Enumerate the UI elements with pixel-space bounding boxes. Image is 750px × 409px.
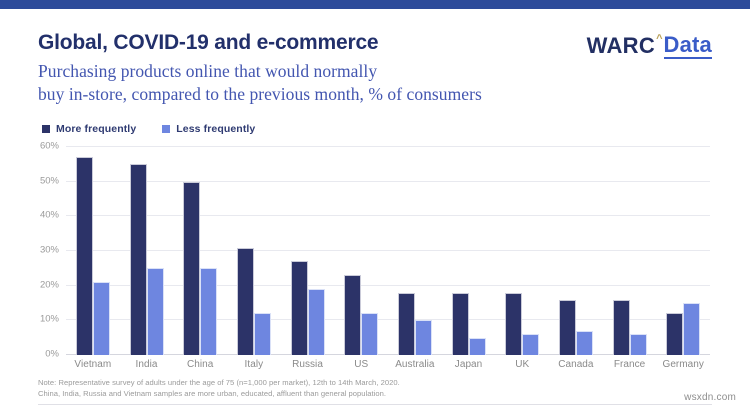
bar[interactable]: [415, 320, 432, 355]
slide: Global, COVID-19 and e-commerce Purchasi…: [0, 0, 750, 409]
caret-icon: ^: [656, 34, 662, 45]
top-accent-bar: [0, 0, 750, 9]
x-axis-label: Italy: [227, 359, 281, 370]
legend-swatch-more-frequently: [42, 125, 50, 133]
x-axis-label: US: [334, 359, 388, 370]
x-axis-labels: VietnamIndiaChinaItalyRussiaUSAustraliaJ…: [66, 359, 710, 370]
page-subtitle: Purchasing products online that would no…: [38, 60, 712, 105]
bar-group: [495, 147, 549, 355]
plot-area: 0%10%20%30%40%50%60%: [66, 147, 710, 355]
legend-label-less-frequently: Less frequently: [176, 123, 255, 135]
footer-divider: [38, 404, 712, 405]
x-axis-label: UK: [495, 359, 549, 370]
legend-item-less-frequently[interactable]: Less frequently: [162, 123, 255, 135]
bar[interactable]: [254, 313, 271, 355]
bar-group: [227, 147, 281, 355]
bar-group: [66, 147, 120, 355]
logo-product-text: Data: [664, 33, 713, 59]
bar-chart: 0%10%20%30%40%50%60% VietnamIndiaChinaIt…: [38, 143, 710, 355]
watermark: wsxdn.com: [684, 392, 736, 403]
x-axis-label: Australia: [388, 359, 442, 370]
footnote-line-2: China, India, Russia and Vietnam samples…: [38, 388, 712, 399]
bar-group: [442, 147, 496, 355]
bar[interactable]: [630, 334, 647, 355]
x-axis-label: France: [603, 359, 657, 370]
bar-group: [334, 147, 388, 355]
chart-legend: More frequently Less frequently: [42, 121, 712, 137]
legend-item-more-frequently[interactable]: More frequently: [42, 123, 136, 135]
logo-brand-text: WARC: [587, 33, 655, 59]
bar-groups: [66, 147, 710, 355]
y-axis-tick-20: 20%: [40, 279, 66, 290]
bar[interactable]: [505, 293, 522, 355]
bar[interactable]: [576, 331, 593, 355]
bar[interactable]: [308, 289, 325, 355]
y-axis-tick-60: 60%: [40, 141, 66, 152]
header: Global, COVID-19 and e-commerce Purchasi…: [38, 31, 712, 119]
bar[interactable]: [200, 268, 217, 355]
bar[interactable]: [237, 248, 254, 355]
page-body: Global, COVID-19 and e-commerce Purchasi…: [0, 9, 750, 409]
bar[interactable]: [666, 313, 683, 355]
y-axis-tick-30: 30%: [40, 245, 66, 256]
y-axis-tick-40: 40%: [40, 210, 66, 221]
x-axis-label: China: [173, 359, 227, 370]
bar[interactable]: [522, 334, 539, 355]
bar-group: [120, 147, 174, 355]
bar-group: [549, 147, 603, 355]
bar[interactable]: [469, 338, 486, 355]
bar-group: [173, 147, 227, 355]
footer: Note: Representative survey of adults un…: [38, 377, 712, 409]
x-axis-label: Russia: [281, 359, 335, 370]
x-axis-label: India: [120, 359, 174, 370]
bar[interactable]: [76, 157, 93, 355]
bar[interactable]: [398, 293, 415, 355]
x-axis-label: Vietnam: [66, 359, 120, 370]
bar-group: [388, 147, 442, 355]
bar[interactable]: [130, 164, 147, 355]
y-axis-tick-0: 0%: [45, 349, 66, 360]
bar[interactable]: [147, 268, 164, 355]
footnote: Note: Representative survey of adults un…: [38, 377, 712, 400]
x-axis-label: Japan: [442, 359, 496, 370]
legend-label-more-frequently: More frequently: [56, 123, 136, 135]
bar[interactable]: [613, 300, 630, 355]
bar[interactable]: [183, 182, 200, 355]
bar[interactable]: [93, 282, 110, 355]
bar-group: [603, 147, 657, 355]
bar-group: [656, 147, 710, 355]
x-axis-label: Canada: [549, 359, 603, 370]
bar-group: [281, 147, 335, 355]
bar[interactable]: [452, 293, 469, 355]
subtitle-line-2: buy in-store, compared to the previous m…: [38, 83, 712, 105]
x-axis-label: Germany: [656, 359, 710, 370]
bar[interactable]: [683, 303, 700, 355]
subtitle-line-1: Purchasing products online that would no…: [38, 60, 712, 82]
bar[interactable]: [559, 300, 576, 355]
y-axis-tick-50: 50%: [40, 175, 66, 186]
y-axis-tick-10: 10%: [40, 314, 66, 325]
bar[interactable]: [361, 313, 378, 355]
bar[interactable]: [344, 275, 361, 355]
warc-data-logo[interactable]: WARC ^ Data: [587, 33, 712, 59]
bar[interactable]: [291, 261, 308, 355]
footnote-line-1: Note: Representative survey of adults un…: [38, 377, 712, 388]
legend-swatch-less-frequently: [162, 125, 170, 133]
